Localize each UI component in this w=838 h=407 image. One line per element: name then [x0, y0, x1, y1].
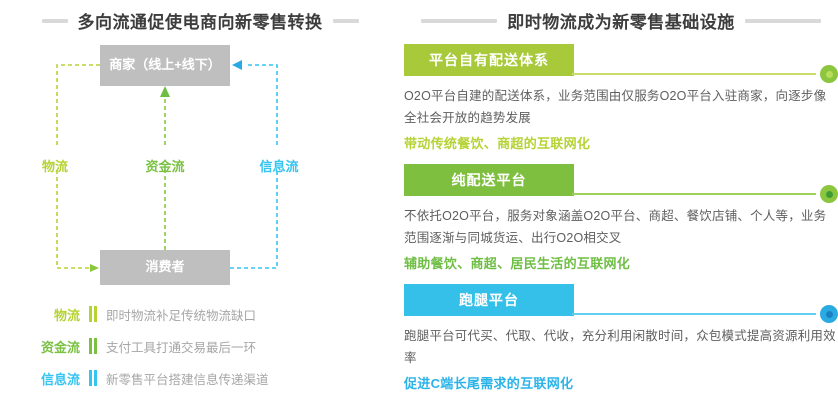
card-header-label: 平台自有配送体系 — [429, 50, 549, 70]
card-marker-dot-icon — [820, 65, 838, 83]
card-header: 跑腿平台 — [404, 284, 838, 318]
card-body: 跑腿平台可代买、代取、代收，充分利用闲散时间，众包模式提高资源利用效率 促进C端… — [404, 318, 838, 395]
card-header-bar: 跑腿平台 — [404, 284, 574, 316]
legend-description: 即时物流补足传统物流缺口 — [106, 305, 256, 324]
card-conclusion-text: 辅助餐饮、商超、居民生活的互联网化 — [404, 252, 838, 275]
arrow-head-zijin-icon — [160, 86, 170, 97]
arrow-head-wuliu-icon — [90, 264, 99, 272]
card-header: 平台自有配送体系 — [404, 44, 838, 78]
card-header: 纯配送平台 — [404, 164, 838, 198]
card-marker-dot-icon — [820, 305, 838, 323]
card-body: O2O平台自建的配送体系，业务范围由仅服务O2O平台入驻商家，向逐步像全社会开放… — [404, 78, 838, 155]
legend-item: 物流 即时物流补足传统物流缺口 — [18, 298, 378, 330]
infographic-page: 多向流通促使电商向新零售转换 即时物流成为新零售基础设施 商家（线上+线下） 消… — [0, 0, 838, 407]
info-card: 纯配送平台 不依托O2O平台，服务对象涵盖O2O平台、商超、餐饮店铺、个人等，业… — [404, 164, 838, 275]
flow-label-zijinliu: 资金流 — [145, 156, 184, 175]
card-header-rule — [572, 193, 816, 195]
flow-label-xinxiliu: 信息流 — [259, 156, 298, 175]
legend-key-label: 物流 — [18, 305, 80, 324]
card-header-bar: 平台自有配送体系 — [404, 44, 574, 76]
flow-label-wuliu: 物流 — [42, 156, 68, 175]
card-body-text: 不依托O2O平台，服务对象涵盖O2O平台、商超、餐饮店铺、个人等，业务范围逐渐与… — [404, 206, 838, 250]
right-section-title: 即时物流成为新零售基础设施 — [404, 8, 838, 33]
diagram-node-merchant: 商家（线上+线下） — [100, 45, 230, 86]
legend-description: 新零售平台搭建信息传递渠道 — [106, 369, 269, 388]
right-title-text: 即时物流成为新零售基础设施 — [507, 8, 735, 33]
card-conclusion-text: 带动传统餐饮、商超的互联网化 — [404, 132, 838, 155]
card-header-bar: 纯配送平台 — [404, 164, 574, 196]
card-header-rule — [572, 313, 816, 315]
card-header-label: 跑腿平台 — [459, 290, 519, 310]
legend-key-label: 资金流 — [18, 337, 80, 356]
card-marker-dot-icon — [820, 185, 838, 203]
info-card: 跑腿平台 跑腿平台可代买、代取、代收，充分利用闲散时间，众包模式提高资源利用效率… — [404, 284, 838, 395]
title-dash-right-icon — [745, 19, 821, 23]
info-card: 平台自有配送体系 O2O平台自建的配送体系，业务范围由仅服务O2O平台入驻商家，… — [404, 44, 838, 155]
diagram-node-consumer: 消费者 — [100, 250, 230, 285]
title-dash-left-icon — [421, 19, 497, 23]
legend-bar-icon — [80, 338, 106, 354]
arrow-head-xinxi-icon — [232, 60, 242, 70]
legend-description: 支付工具打通交易最后一环 — [106, 337, 256, 356]
card-header-rule — [572, 73, 816, 75]
legend-list: 物流 即时物流补足传统物流缺口 资金流 支付工具打通交易最后一环 信息流 新零售… — [18, 298, 378, 394]
card-conclusion-text: 促进C端长尾需求的互联网化 — [404, 372, 838, 395]
legend-bar-icon — [80, 306, 106, 322]
card-body: 不依托O2O平台，服务对象涵盖O2O平台、商超、餐饮店铺、个人等，业务范围逐渐与… — [404, 198, 838, 275]
legend-item: 信息流 新零售平台搭建信息传递渠道 — [18, 362, 378, 394]
card-header-label: 纯配送平台 — [452, 170, 527, 190]
legend-key-label: 信息流 — [18, 369, 80, 388]
card-body-text: 跑腿平台可代买、代取、代收，充分利用闲散时间，众包模式提高资源利用效率 — [404, 326, 838, 370]
legend-item: 资金流 支付工具打通交易最后一环 — [18, 330, 378, 362]
legend-bar-icon — [80, 370, 106, 386]
card-body-text: O2O平台自建的配送体系，业务范围由仅服务O2O平台入驻商家，向逐步像全社会开放… — [404, 86, 838, 130]
